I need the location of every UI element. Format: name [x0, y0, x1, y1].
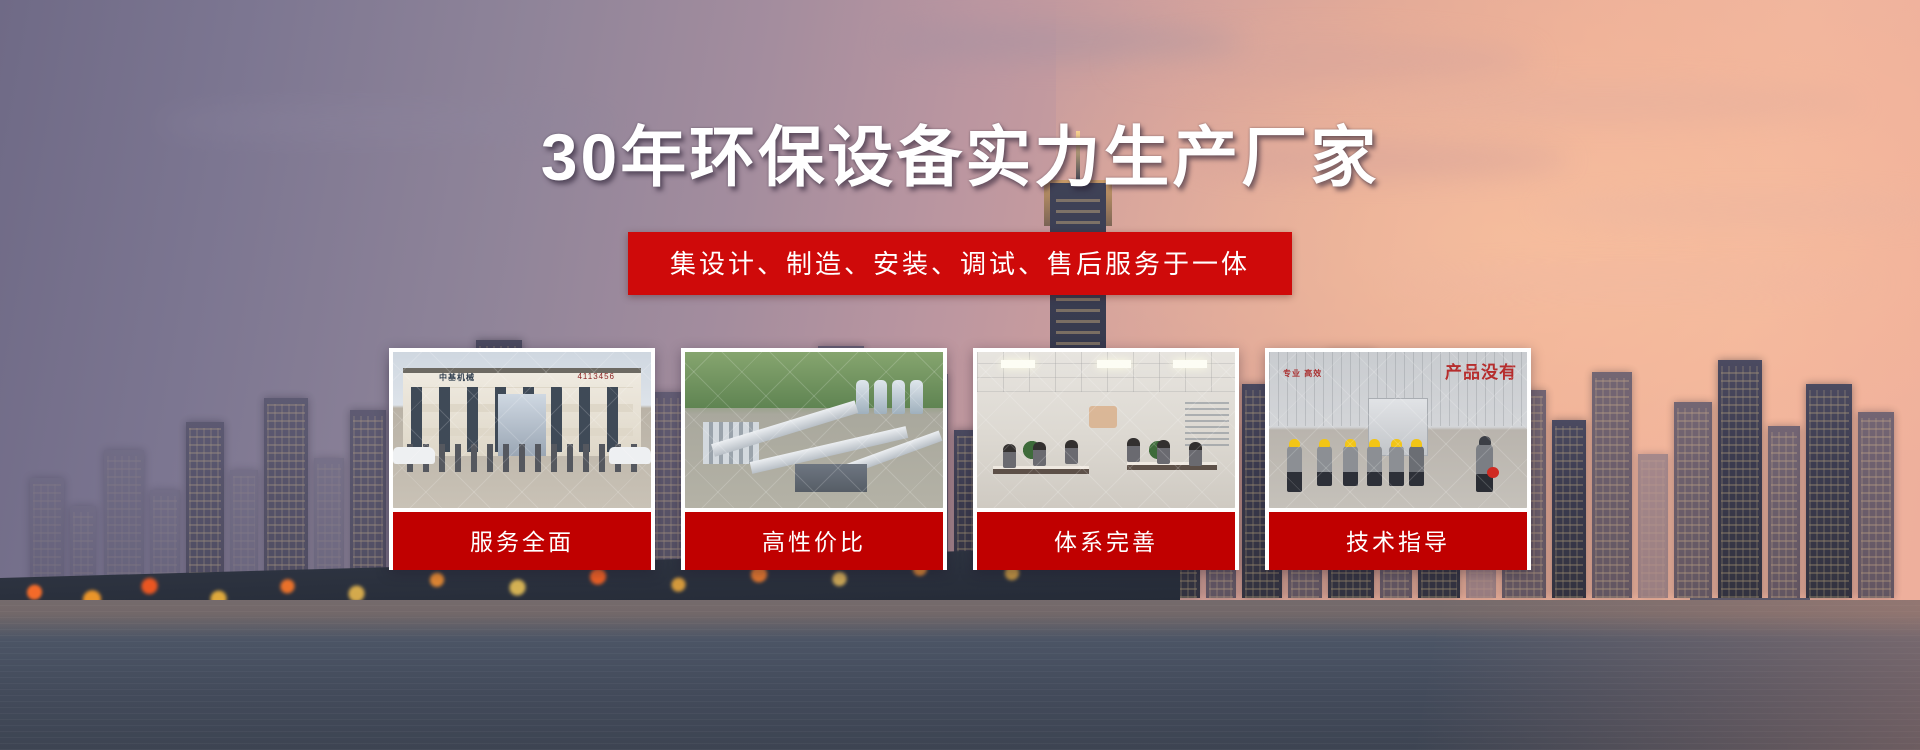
office-worker [1003, 444, 1016, 468]
office-worker [1127, 438, 1140, 462]
worker-with-hardhat [1287, 446, 1302, 492]
card-photo-office-building: 中基机械 4113456 [393, 352, 651, 508]
feature-card-system[interactable]: 体系完善 [973, 348, 1239, 570]
red-helmet [1487, 467, 1499, 478]
company-phone-text: 4113456 [577, 372, 615, 381]
feature-card-value[interactable]: 高性价比 [681, 348, 947, 570]
card-photo-industrial-plant [685, 352, 943, 508]
worker-with-hardhat [1367, 446, 1382, 486]
subtitle-badge: 集设计、制造、安装、调试、售后服务于一体 [628, 232, 1292, 295]
feature-card-list: 中基机械 4113456 服务全面 [0, 348, 1920, 570]
worker-with-hardhat [1317, 446, 1332, 486]
feature-card-service[interactable]: 中基机械 4113456 服务全面 [389, 348, 655, 570]
wall-slogan-text: 产品没有 [1445, 358, 1517, 383]
card-photo-factory-workers: 产品没有 专业 高效 [1269, 352, 1527, 508]
office-window [1185, 398, 1229, 446]
office-worker [1065, 440, 1078, 464]
worker-with-hardhat [1389, 446, 1404, 486]
page-title: 30年环保设备实力生产厂家 [0, 104, 1920, 200]
feature-card-guidance[interactable]: 产品没有 专业 高效 技术指导 [1265, 348, 1531, 570]
office-worker [1189, 442, 1202, 466]
worker-with-hardhat [1409, 446, 1424, 486]
parked-car [609, 447, 651, 464]
ceiling-light [1173, 360, 1207, 368]
wall-slogan-small-text: 专业 高效 [1283, 368, 1322, 379]
worker-with-hardhat [1343, 446, 1358, 486]
office-desk [1127, 462, 1217, 470]
company-sign-text: 中基机械 [439, 372, 475, 383]
card-caption: 技术指导 [1269, 512, 1527, 570]
staff-row [407, 444, 637, 472]
silo [892, 380, 905, 414]
silo [856, 380, 869, 414]
office-worker [1157, 440, 1170, 464]
hero-banner: WESTIN 30年环保设备实力生产厂家 集设计、制造、安装、调试、售后服务于一… [0, 0, 1920, 750]
card-caption: 高性价比 [685, 512, 943, 570]
subtitle-container: 集设计、制造、安装、调试、售后服务于一体 [0, 232, 1920, 295]
water-sunset-reflection [1220, 600, 1920, 750]
card-caption: 体系完善 [977, 512, 1235, 570]
wall-decoration [1089, 406, 1117, 428]
office-ceiling [977, 352, 1235, 392]
silo [874, 380, 887, 414]
ceiling-light [1001, 360, 1035, 368]
card-caption: 服务全面 [393, 512, 651, 570]
parked-car [393, 447, 435, 464]
cloud [883, 23, 1243, 61]
card-photo-office-interior [977, 352, 1235, 508]
office-worker [1033, 442, 1046, 466]
silo [910, 380, 923, 414]
ceiling-light [1097, 360, 1131, 368]
plant-shed [795, 464, 867, 492]
